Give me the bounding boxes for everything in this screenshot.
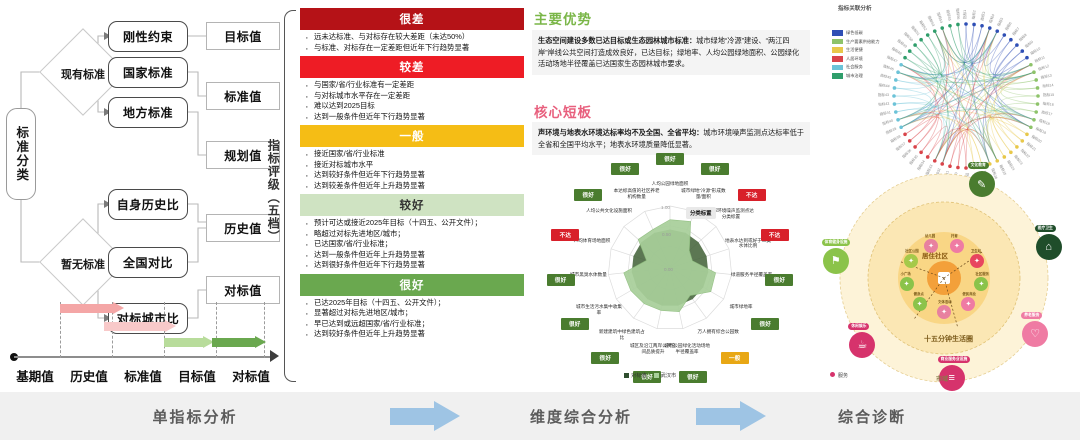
lifecircle-inner-node-7: ✦ [900, 277, 914, 291]
banner-step-2: 维度综合分析 [466, 406, 696, 427]
advantage-text: 生态空间建设多数已达目标或生态园林城市标准：城市绿地“冷源”建设、“两江四岸”岸… [532, 30, 810, 75]
network-legend-label: 社会服务 [846, 64, 863, 70]
rating-level-header-3: 较好 [300, 194, 524, 216]
svg-text:指标11: 指标11 [1034, 54, 1046, 63]
rating-bullet: 达到较好条件但近年下行趋势显著 [302, 170, 524, 181]
rating-bullet: 远未达标准、与对标存在较大差距（未达50%） [302, 32, 524, 43]
panel-rating-levels: 指标评级（五档） 很差远未达标准、与对标存在较大差距（未达50%）与标准、对标存… [262, 2, 524, 390]
lifecircle-inner-tag-6: 健身点 [911, 290, 927, 297]
lifecircle-inner-tag-7: 小广场 [898, 270, 914, 277]
svg-text:指标46: 指标46 [882, 63, 894, 71]
rating-bullet: 接近国家/省/行业标准 [302, 149, 524, 160]
lifecircle-footnote: 服务 [830, 372, 848, 379]
banner-arrow-1 [390, 401, 466, 431]
advantage-text-bold: 生态空间建设多数已达目标或生态园林城市标准： [538, 36, 696, 45]
svg-text:指标41: 指标41 [879, 109, 891, 116]
tick-label-history: 历史值 [62, 366, 116, 385]
svg-text:指标44: 指标44 [878, 82, 890, 88]
svg-text:指标7: 指标7 [1011, 26, 1021, 36]
rating-bullet: 接近对标城市水平 [302, 160, 524, 171]
rating-axis-label-wrap: 指标评级（五档） [262, 106, 284, 276]
rating-bullet: 与标准、对标存在一定差距但近年下行趋势显著 [302, 43, 524, 54]
svg-text:指标19: 指标19 [1035, 126, 1047, 135]
lifecircle-outer-label: 市域 [936, 374, 948, 383]
rating-axis-label: 指标评级（五档） [267, 139, 280, 243]
timeline-tick-labels: 基期值 历史值 标准值 目标值 对标值 [8, 366, 280, 385]
lifecircle-outer-tag-1: 医疗卫生 [1035, 225, 1056, 232]
node-self-history: 自身历史比 [108, 189, 188, 220]
network-legend-item-5: 城市治理 [832, 73, 880, 79]
radar-scale-tick-2: 1.00 [661, 205, 670, 210]
radar-rating-badge-12: 不达 [551, 229, 579, 241]
radar-axis-label-8: 城区及沿江两岸公共空间品质提升 [630, 343, 676, 354]
radar-axis-label-10: 城市生活污水集中收集率 [576, 304, 622, 315]
network-legend-swatch [832, 73, 843, 79]
radar-rating-badge-4: 很好 [765, 274, 793, 286]
network-legend-label: 城市治理 [846, 73, 863, 79]
lifecircle-inner-node-5: ✦ [937, 305, 951, 319]
timeline-arrow-2 [104, 320, 176, 333]
rating-bullet: 早已达到或远超国家/省/行业标准； [302, 319, 524, 330]
rating-level-header-0: 很差 [300, 8, 524, 30]
lifecircle-outer-node-4: ☕ [849, 332, 875, 358]
rating-ladder: 很差远未达标准、与对标存在较大差距（未达50%）与标准、对标存在一定差距但近年下… [300, 8, 524, 343]
lifecircle-outer-node-5: ⚑ [823, 248, 849, 274]
radar-axis-label-6: 万人拥有综合公园数 [695, 329, 741, 335]
svg-text:指标48: 指标48 [891, 46, 903, 56]
rating-bullet: 与对标城市水平存在一定差距 [302, 91, 524, 102]
lifecircle-outer-tag-0: 文化教育 [968, 162, 989, 169]
root-node-standard-classification: 标准分类 [6, 108, 36, 200]
banner-arrow-2 [696, 401, 772, 431]
process-banner: 单指标分析 维度综合分析 综合诊断 [0, 392, 1080, 440]
rating-level-header-1: 较差 [300, 56, 524, 78]
svg-text:指标18: 指标18 [1038, 118, 1050, 126]
svg-text:指标51: 指标51 [910, 25, 921, 37]
radar-legend-item-1: 武汉市 [654, 372, 677, 379]
gap-text: 声环境与地表水环境达标率均不及全国、全省平均：城市环境噪声监测点达标率低于全省和… [532, 122, 810, 155]
network-legend-label: 人居环境 [846, 56, 863, 62]
rating-bullet: 达到很好条件但近年下行趋势显著 [302, 260, 524, 271]
svg-text:指标39: 指标39 [885, 126, 897, 135]
rating-bullet: 与国家/省/行业标准有一定差距 [302, 80, 524, 91]
rating-level-bullets-4: 已达2025年目标（十四五、公开文件）；显著超过对标先进地区/城市；早已达到或远… [300, 296, 524, 343]
lifecircle-ring-label: 十五分钟生活圈 [924, 334, 973, 344]
svg-text:指标36: 指标36 [901, 148, 912, 159]
rating-level-bullets-2: 接近国家/省/行业标准接近对标城市水平达到较好条件但近年下行趋势显著达到较差条件… [300, 147, 524, 194]
radar-scale-tick-0: 0.00 [664, 267, 673, 272]
timeline-tick-target [216, 302, 217, 358]
network-legend-item-1: 生产要素供给能力 [832, 39, 880, 45]
svg-text:指标55: 指标55 [945, 9, 952, 21]
rating-bullet: 难以达到2025目标 [302, 101, 524, 112]
svg-text:指标49: 指标49 [896, 38, 908, 49]
banner-step-3: 综合诊断 [772, 406, 972, 427]
rating-bullet: 达到较差条件但近年上升趋势显著 [302, 181, 524, 192]
radar-axis-label-14: 本达标高值的社区养老机构数量 [614, 188, 660, 199]
network-legend-item-2: 生活便捷 [832, 47, 880, 53]
node-local-standard: 地方标准 [108, 97, 188, 128]
svg-text:指标6: 指标6 [1004, 21, 1013, 31]
radar-legend: 对标值 武汉市 [624, 372, 676, 379]
panel-network-and-lifecircle: 指标关联分析 指标1指标2指标3指标4指标5指标6指标7指标8指标9指标10指标… [816, 0, 1080, 392]
svg-text:指标54: 指标54 [936, 11, 944, 23]
radar-callout: 分类标置 [686, 207, 716, 219]
rating-level-bullets-3: 预计可达或接近2025年目标（十四五、公开文件）；略超过对标先进地区/城市；已达… [300, 216, 524, 274]
lifecircle-inner-tag-3: 社区服务 [972, 270, 992, 277]
radar-rating-badge-10: 很好 [561, 318, 589, 330]
network-legend-item-0: 绿色低碳 [832, 30, 880, 36]
radar-axis-label-9: 新建建筑中绿色建筑占比 [599, 329, 645, 340]
svg-text:指标56: 指标56 [955, 8, 961, 20]
radar-rating-badge-14: 很好 [611, 163, 639, 175]
lifecircle-inner-tag-2: 卫生站 [968, 247, 984, 254]
radar-chart: 0.000.501.00人均公园绿地面积很好城市绿地“冷源”形成数量/面积很好城… [528, 168, 813, 390]
svg-text:指标17: 指标17 [1041, 109, 1053, 116]
rating-bullet: 达到较好条件但近年上升趋势显著 [302, 329, 524, 340]
network-legend-label: 生产要素供给能力 [846, 39, 880, 45]
lifecircle-outer-tag-4: 休闲娱乐 [848, 323, 869, 330]
svg-text:指标10: 指标10 [1029, 46, 1041, 56]
svg-text:指标2: 指标2 [971, 10, 977, 20]
network-legend-swatch [832, 47, 843, 53]
lifecircle-inner-node-6: ✦ [913, 297, 927, 311]
network-legend-label: 生活便捷 [846, 47, 863, 53]
radar-axis-label-0: 人均公园绿地面积 [647, 181, 693, 187]
rating-bullet: 已达2025年目标（十四五、公开文件）； [302, 298, 524, 309]
rating-level-header-4: 很好 [300, 274, 524, 296]
network-legend-swatch [832, 30, 843, 36]
radar-legend-item-0: 对标值 [624, 372, 647, 379]
network-legend-item-4: 社会服务 [832, 64, 880, 70]
radar-rating-badge-6: 一般 [721, 352, 749, 364]
rating-bullet: 达到一般条件但近年下行趋势显著 [302, 112, 524, 123]
value-timeline: 基期值 历史值 标准值 目标值 对标值 [8, 296, 278, 386]
tick-label-standard: 标准值 [116, 366, 170, 385]
svg-text:指标14: 指标14 [1042, 82, 1054, 88]
rating-bullet: 达到一般条件但近年上升趋势显著 [302, 250, 524, 261]
svg-text:指标45: 指标45 [880, 72, 892, 79]
radar-rating-badge-0: 很好 [656, 153, 684, 165]
network-legend-label: 绿色低碳 [846, 30, 863, 36]
gap-text-bold: 声环境与地表水环境达标率均不及全国、全省平均： [538, 128, 703, 137]
rating-brace [284, 10, 296, 382]
lifecircle-inner-tag-4: 便民商业 [959, 290, 979, 297]
svg-text:指标1: 指标1 [962, 10, 967, 19]
network-legend-swatch [832, 39, 843, 45]
svg-text:指标8: 指标8 [1018, 32, 1028, 42]
rating-level-bullets-0: 远未达标准、与对标存在较大差距（未达50%）与标准、对标存在一定差距但近年下行趋… [300, 30, 524, 56]
lifecircle-outer-node-2: ♡ [1022, 321, 1048, 347]
svg-text:指标20: 指标20 [1031, 134, 1043, 144]
node-national-standard: 国家标准 [108, 57, 188, 88]
svg-text:指标12: 指标12 [1037, 63, 1049, 71]
lifecircle-inner-node-8: ✦ [904, 254, 918, 268]
network-legend-swatch [832, 56, 843, 62]
svg-text:指标15: 指标15 [1043, 92, 1054, 97]
svg-text:指标37: 指标37 [895, 141, 907, 152]
radar-axis-label-13: 人均公共文化设施面积 [586, 208, 632, 214]
rating-level-header-2: 一般 [300, 125, 524, 147]
banner-step-1: 单指标分析 [0, 406, 390, 427]
svg-text:指标43: 指标43 [878, 92, 889, 97]
network-legend-item-3: 人居环境 [832, 56, 880, 62]
svg-text:指标38: 指标38 [889, 134, 901, 144]
radar-axis-label-1: 城市绿地“冷源”形成数量/面积 [680, 188, 726, 199]
svg-text:指标40: 指标40 [881, 118, 893, 126]
lifecircle-outer-node-1: ⌂ [1036, 234, 1062, 260]
lifecircle-outer-node-0: ✎ [969, 171, 995, 197]
svg-text:指标53: 指标53 [927, 15, 936, 27]
svg-text:指标21: 指标21 [1026, 141, 1038, 152]
root-node-label: 标准分类 [15, 126, 28, 182]
node-rigid-constraint: 刚性约束 [108, 21, 188, 52]
gap-heading: 核心短板 [534, 101, 592, 121]
network-legend-swatch [832, 65, 843, 71]
radar-scale-tick-1: 0.50 [662, 232, 671, 237]
svg-text:指标22: 指标22 [1020, 148, 1031, 159]
lifecircle-inner-tag-0: 幼儿园 [922, 232, 938, 239]
radar-rating-badge-1: 很好 [701, 163, 729, 175]
svg-text:指标47: 指标47 [886, 54, 898, 63]
tick-label-target: 目标值 [170, 366, 224, 385]
svg-text:指标9: 指标9 [1024, 39, 1034, 49]
svg-text:指标52: 指标52 [918, 19, 928, 31]
panel-diagnosis-summary: 主要优势 生态空间建设多数已达目标或生态园林城市标准：城市绿地“冷源”建设、“两… [528, 0, 813, 392]
svg-text:指标4: 指标4 [988, 13, 996, 23]
lifecircle-inner-node-2: ✦ [970, 254, 984, 268]
svg-text:指标42: 指标42 [878, 101, 890, 107]
svg-text:指标50: 指标50 [903, 31, 914, 42]
svg-text:指标3: 指标3 [979, 11, 986, 21]
slide-root: 标准分类 现有标准 暂无标准 刚性约束 国家标准 地方标准 自身历史比 全国对比… [0, 0, 1080, 440]
decision-existing-standard-label: 现有标准 [50, 66, 116, 82]
decision-no-standard-label: 暂无标准 [50, 256, 116, 272]
lifecircle-outer-tag-2: 养老服务 [1021, 312, 1042, 319]
lifecircle-inner-tag-5: 文体活动 [935, 298, 955, 305]
lifecircle-center-label: 居住社区 [922, 250, 948, 260]
lifecircle-inner-tag-8: 社区公园 [902, 247, 922, 254]
timeline-axis [14, 356, 272, 358]
svg-text:指标16: 指标16 [1042, 101, 1054, 107]
svg-text:指标5: 指标5 [996, 17, 1004, 27]
lifecircle-outer-tag-5: 体育健身设施 [822, 239, 851, 246]
radar-rating-badge-9: 很好 [591, 352, 619, 364]
timeline-arrow-4 [212, 336, 266, 349]
radar-rating-badge-3: 不达 [761, 229, 789, 241]
rating-level-bullets-1: 与国家/省/行业标准有一定差距与对标城市水平存在一定差距难以达到2025目标达到… [300, 78, 524, 125]
radar-rating-badge-7: 很好 [679, 371, 707, 383]
rating-bullet: 已达国家/省/行业标准； [302, 239, 524, 250]
radar-rating-badge-5: 很好 [751, 318, 779, 330]
rating-bullet: 略超过对标先进地区/城市； [302, 229, 524, 240]
radar-rating-badge-2: 不达 [738, 189, 766, 201]
timeline-arrow-3 [164, 336, 214, 349]
tick-label-base: 基期值 [8, 366, 62, 385]
network-legend: 绿色低碳生产要素供给能力生活便捷人居环境社会服务城市治理 [832, 30, 880, 82]
lifecircle-inner-tag-1: 托育 [948, 232, 961, 239]
lifecircle-inner-node-1: ✦ [950, 239, 964, 253]
lifecircle-outer-tag-3: 商业服务业设施 [938, 356, 971, 363]
radar-rating-badge-13: 很好 [574, 189, 602, 201]
advantage-heading: 主要优势 [534, 8, 592, 28]
node-national-compare: 全国对比 [108, 247, 188, 278]
timeline-arrow-1 [60, 302, 124, 315]
rating-bullet: 显著超过对标先进地区/城市； [302, 308, 524, 319]
svg-text:指标13: 指标13 [1040, 72, 1052, 79]
radar-axis-label-5: 城市绿地率 [718, 304, 764, 310]
radar-rating-badge-11: 很好 [547, 274, 575, 286]
rating-bullet: 预计可达或接近2025年目标（十四五、公开文件）； [302, 218, 524, 229]
